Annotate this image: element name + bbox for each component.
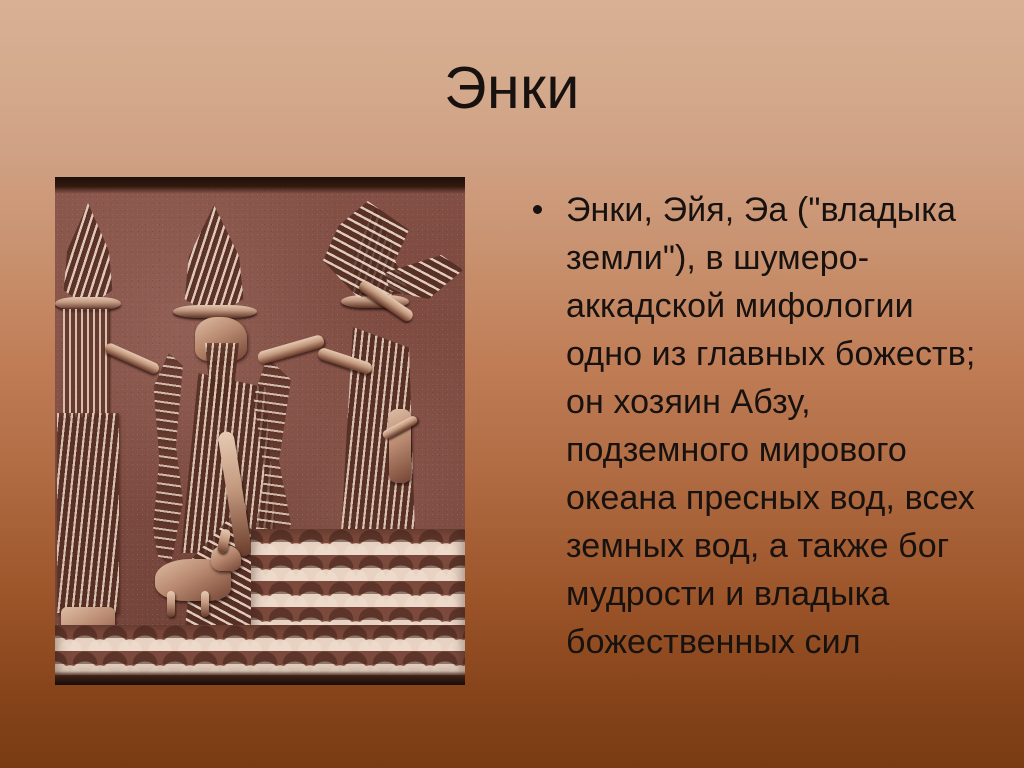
- bullet-text: Энки, Эйя, Эа ("владыка земли"), в шумер…: [566, 191, 975, 661]
- list-item: Энки, Эйя, Эа ("владыка земли"), в шумер…: [528, 186, 980, 666]
- goat-leg-front: [201, 591, 209, 617]
- content-body: Энки, Эйя, Эа ("владыка земли"), в шумер…: [528, 186, 980, 666]
- presentation-slide: Энки: [0, 0, 1024, 768]
- relief-top-border: [55, 177, 465, 194]
- left-figure-robe: [57, 413, 119, 613]
- goat-leg-back: [167, 591, 175, 617]
- enki-relief-image: [55, 177, 465, 685]
- scaled-ground-band: [55, 625, 465, 675]
- bullet-icon: [533, 205, 542, 214]
- relief-bottom-border: [55, 671, 465, 685]
- page-title: Энки: [0, 56, 1024, 120]
- left-pillar: [63, 309, 109, 417]
